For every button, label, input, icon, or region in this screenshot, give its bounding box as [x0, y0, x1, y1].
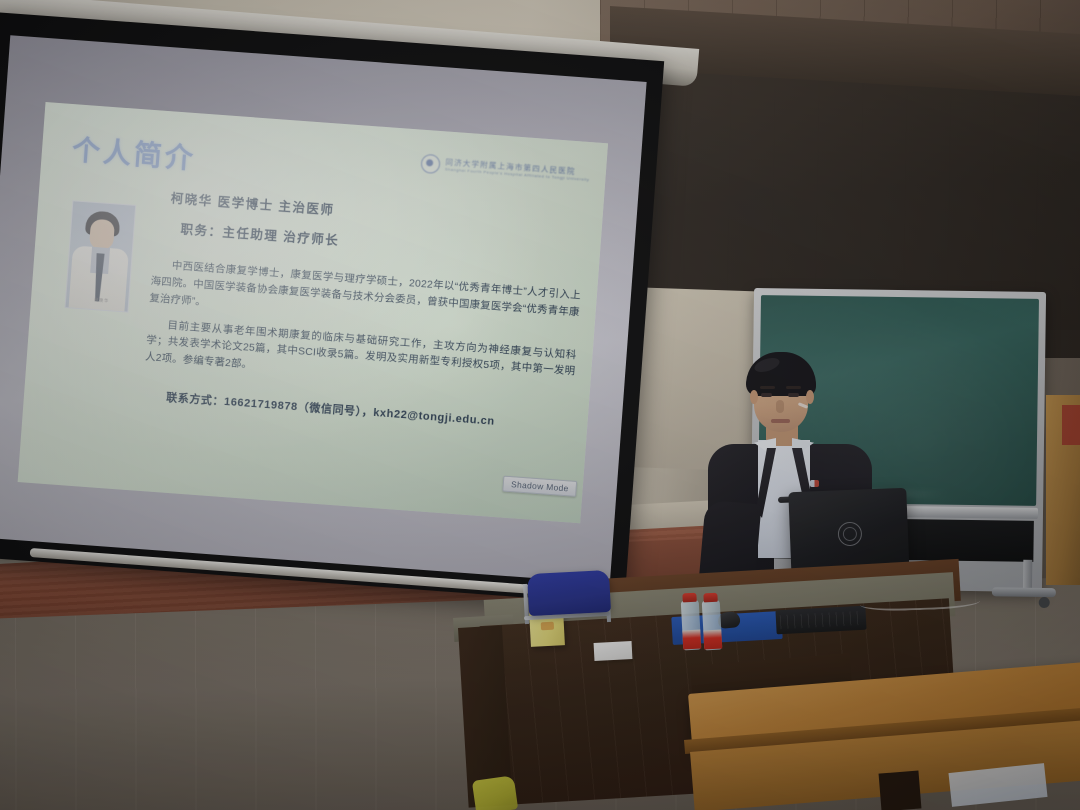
chalkboard-foot — [992, 587, 1056, 597]
bench-shelf-gap — [879, 770, 922, 810]
logo-mark-icon — [421, 154, 441, 174]
portrait-photo: 柯晓华 — [65, 200, 137, 312]
paper-sheet — [594, 641, 633, 661]
slide-title: 个人简介 — [71, 128, 198, 177]
projected-slide: 个人简介 同济大学附属上海市第四人民医院 Shanghai Fourth Peo… — [18, 102, 608, 523]
lapel-pin — [810, 480, 819, 487]
yellow-bag — [472, 775, 518, 810]
eyebrow-right — [786, 386, 801, 389]
hospital-logo: 同济大学附属上海市第四人民医院 Shanghai Fourth People's… — [421, 154, 591, 185]
blue-chair[interactable] — [527, 570, 611, 616]
eye-right — [788, 393, 799, 397]
water-bottle — [702, 600, 723, 651]
shadow-mode-badge[interactable]: Shadow Mode — [503, 476, 578, 497]
caster-wheel — [1039, 597, 1050, 608]
slide-contact-line: 联系方式：16621719878（微信同号），kxh22@tongji.edu.… — [142, 387, 572, 434]
eye-left — [761, 393, 772, 397]
presenter-hair — [746, 352, 816, 396]
slide-body: 柯晓华 医学博士 主治医师 职务：主任助理 治疗师长 中西医结合康复学博士，康复… — [142, 186, 587, 434]
projector-screen[interactable]: 个人简介 同济大学附属上海市第四人民医院 Shanghai Fourth Peo… — [0, 12, 664, 605]
ear-right — [806, 390, 814, 404]
bottle-label — [682, 630, 701, 650]
dell-logo-icon — [837, 522, 862, 547]
bottle-cap — [682, 593, 696, 603]
ear-left — [750, 390, 758, 404]
nose — [776, 400, 784, 413]
projector-screen-surface: 个人简介 同济大学附属上海市第四人民医院 Shanghai Fourth Peo… — [0, 35, 647, 583]
portrait-face — [89, 219, 115, 251]
portrait-caption: 柯晓华 — [94, 297, 109, 304]
mouth — [771, 419, 790, 423]
eyebrow-left — [760, 386, 775, 389]
bottle-cap — [703, 593, 717, 603]
keyboard[interactable] — [775, 606, 866, 635]
logo-text: 同济大学附属上海市第四人民医院 Shanghai Fourth People's… — [445, 158, 590, 182]
lecture-hall-photo: 个人简介 同济大学附属上海市第四人民医院 Shanghai Fourth Peo… — [0, 0, 1080, 810]
bottle-label — [703, 630, 722, 650]
water-bottle — [681, 600, 702, 651]
red-object — [1062, 405, 1080, 445]
